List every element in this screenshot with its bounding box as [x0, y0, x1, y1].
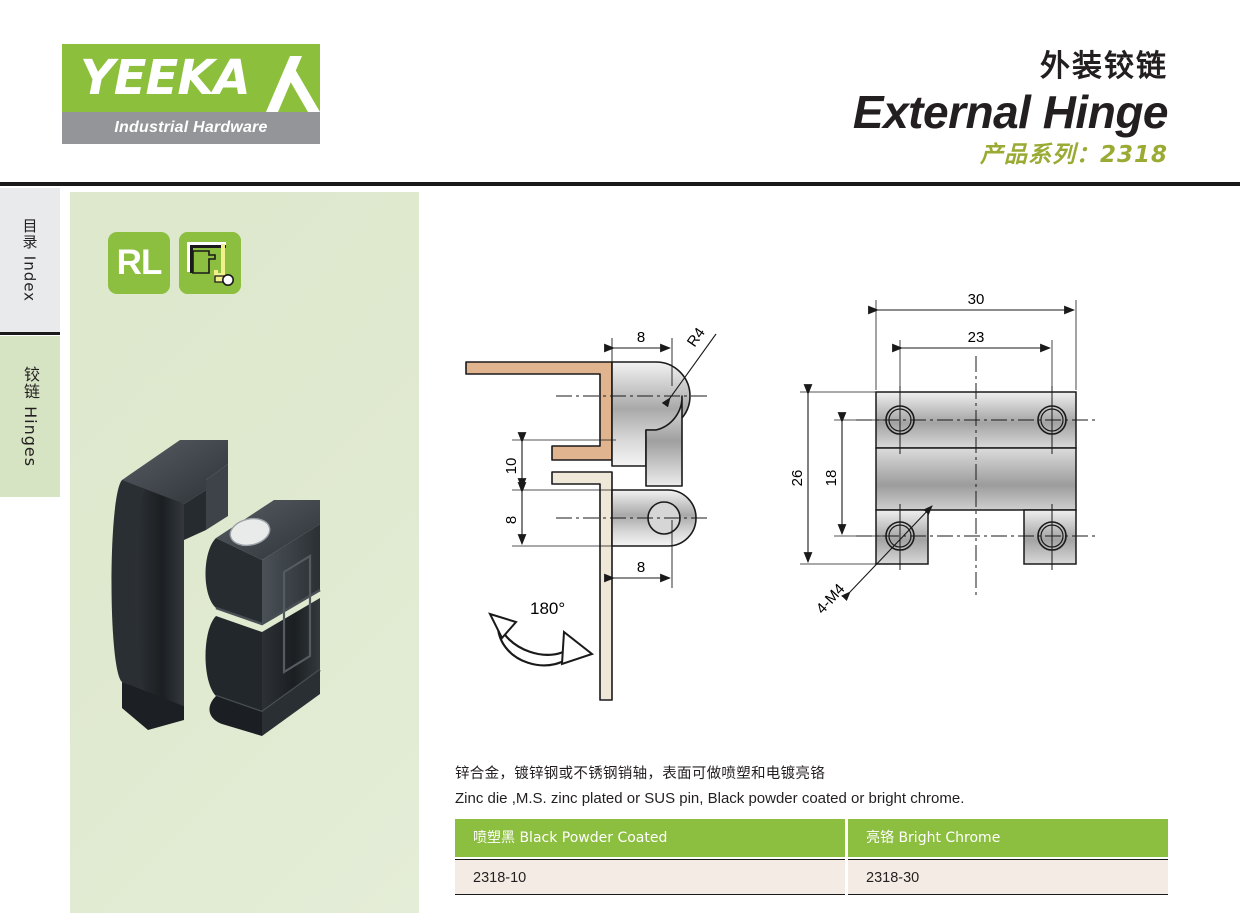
rotation-label: 180°: [530, 599, 565, 618]
mounting-diagram-badge: [179, 232, 241, 294]
section-view-drawing: 8 R4 10 8 8 180°: [460, 320, 790, 700]
brand-tagline: Industrial Hardware: [62, 112, 320, 144]
dim-8-mid: 8: [503, 516, 520, 524]
feature-badges: RL: [108, 232, 241, 294]
dim-23: 23: [968, 329, 985, 346]
sidebar-item-label: 铰链 Hinges: [18, 366, 42, 467]
table-header-row: 喷塑黑 Black Powder Coated 亮铬 Bright Chrome: [455, 819, 1168, 857]
dim-26: 26: [789, 470, 806, 487]
front-view-drawing: 30 23 26 18 4-M4: [790, 280, 1130, 620]
tab-index-inner: 目录 Index: [0, 188, 60, 332]
dim-8-top: 8: [637, 329, 645, 346]
mounting-diagram-icon: [179, 232, 241, 294]
material-description: 锌合金，镀锌钢或不锈钢销轴，表面可做喷塑和电镀亮铬 Zinc die ,M.S.…: [455, 764, 1155, 809]
logo-gray-bar: Industrial Hardware: [62, 112, 320, 144]
logo-mark-icon: [230, 46, 322, 112]
column-header-chrome: 亮铬 Bright Chrome: [848, 819, 1168, 857]
brand-logo: YEEKA Industrial Hardware: [62, 44, 320, 144]
description-en: Zinc die ,M.S. zinc plated or SUS pin, B…: [455, 788, 1155, 809]
thread-callout: 4-M4: [813, 581, 849, 618]
table-row: 2318-10 2318-30: [455, 859, 1168, 895]
sidebar-item-label: 目录 Index: [20, 218, 41, 302]
brand-name: YEEKA: [80, 48, 250, 108]
dim-30: 30: [968, 291, 985, 308]
dim-10: 10: [503, 458, 520, 475]
rotation-arrow-icon: [490, 614, 592, 665]
sidebar-item-hinges[interactable]: 铰链 Hinges: [0, 336, 60, 497]
rl-badge: RL: [108, 232, 170, 294]
title-block: 外装铰链 External Hinge 产品系列：2318: [608, 50, 1168, 170]
part-number-black: 2318-10: [455, 859, 845, 895]
description-cn: 锌合金，镀锌钢或不锈钢销轴，表面可做喷塑和电镀亮铬: [455, 764, 1155, 785]
sidebar-divider: [0, 332, 60, 335]
column-header-black: 喷塑黑 Black Powder Coated: [455, 819, 845, 857]
dim-18: 18: [823, 470, 840, 487]
dim-r4: R4: [684, 325, 709, 350]
sidebar-item-index[interactable]: 目录 Index: [0, 188, 60, 332]
hinge-3d-image: [88, 420, 388, 750]
catalog-page: YEEKA Industrial Hardware 外装铰链 External …: [0, 0, 1240, 913]
header-divider: [0, 182, 1240, 186]
page-header: YEEKA Industrial Hardware 外装铰链 External …: [0, 0, 1240, 184]
product-render: [88, 420, 388, 750]
tab-hinges-inner: 铰链 Hinges: [0, 336, 60, 497]
part-number-chrome: 2318-30: [848, 859, 1168, 895]
logo-green-block: YEEKA: [62, 44, 320, 112]
finish-table: 喷塑黑 Black Powder Coated 亮铬 Bright Chrome…: [455, 819, 1168, 895]
series-label: 产品系列：2318: [608, 140, 1168, 170]
dim-8-bottom: 8: [637, 559, 645, 576]
product-image-panel: RL: [70, 192, 419, 913]
page-title-cn: 外装铰链: [608, 50, 1168, 84]
page-title-en: External Hinge: [608, 86, 1168, 138]
